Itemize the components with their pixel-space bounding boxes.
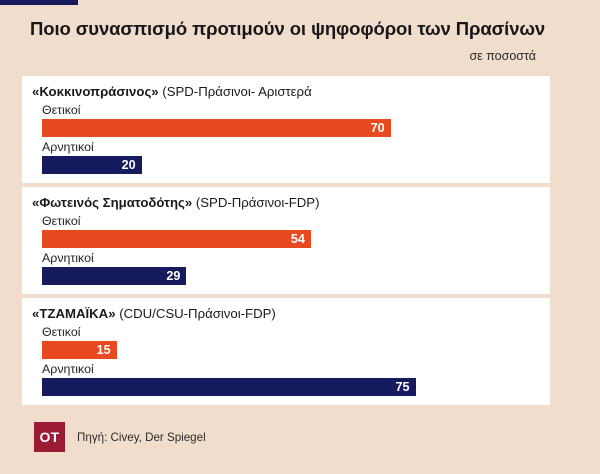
group-title-parties: (CDU/CSU-Πράσινοι-FDP)	[116, 306, 276, 321]
bar-track: 54	[42, 230, 540, 248]
series-negative: Αρνητικοί 20	[22, 139, 550, 174]
group-title-parties: (SPD-Πράσινοι-FDP)	[192, 195, 319, 210]
bar-negative[interactable]: 75	[42, 378, 416, 396]
page-title: Ποιο συνασπισμό προτιμούν οι ψηφοφόροι τ…	[30, 17, 550, 41]
bar-track: 15	[42, 341, 540, 359]
group-title-parties: (SPD-Πράσινοι- Αριστερά	[159, 84, 312, 99]
series-positive: Θετικοί 70	[22, 102, 550, 137]
series-label: Θετικοί	[42, 324, 540, 341]
bar-value: 75	[395, 380, 409, 394]
bar-positive[interactable]: 54	[42, 230, 311, 248]
series-label: Θετικοί	[42, 213, 540, 230]
source-text: Πηγή: Civey, Der Spiegel	[77, 431, 206, 444]
bar-track: 29	[42, 267, 540, 285]
bar-track: 20	[42, 156, 540, 174]
series-label: Αρνητικοί	[42, 361, 540, 378]
units-subtitle: σε ποσοστά	[469, 49, 536, 63]
group-title-name: «Κοκκινοπράσινος»	[32, 84, 159, 99]
bar-track: 70	[42, 119, 540, 137]
series-negative: Αρνητικοί 75	[22, 361, 550, 396]
chart-header: Ποιο συνασπισμό προτιμούν οι ψηφοφόροι τ…	[0, 0, 600, 65]
footer: OT Πηγή: Civey, Der Spiegel	[34, 422, 206, 452]
series-label: Αρνητικοί	[42, 139, 540, 156]
group-title-name: «Φωτεινός Σηματοδότης»	[32, 195, 192, 210]
bar-negative[interactable]: 20	[42, 156, 142, 174]
chart-groups: «Κοκκινοπράσινος» (SPD-Πράσινοι- Αριστερ…	[22, 76, 550, 409]
bar-value: 29	[166, 269, 180, 283]
series-negative: Αρνητικοί 29	[22, 250, 550, 285]
subtitle-row: σε ποσοστά	[30, 47, 570, 65]
series-positive: Θετικοί 54	[22, 213, 550, 248]
bar-negative[interactable]: 29	[42, 267, 186, 285]
series-label: Θετικοί	[42, 102, 540, 119]
top-accent-bar	[0, 0, 78, 5]
bar-value: 54	[291, 232, 305, 246]
group-title: «Κοκκινοπράσινος» (SPD-Πράσινοι- Αριστερ…	[22, 83, 550, 102]
group-title-name: «ΤΖΑΜΑΪΚΑ»	[32, 306, 116, 321]
bar-track: 75	[42, 378, 540, 396]
bar-positive[interactable]: 15	[42, 341, 117, 359]
bar-positive[interactable]: 70	[42, 119, 391, 137]
series-positive: Θετικοί 15	[22, 324, 550, 359]
group-title: «Φωτεινός Σηματοδότης» (SPD-Πράσινοι-FDP…	[22, 194, 550, 213]
bar-value: 70	[371, 121, 385, 135]
coalition-group: «ΤΖΑΜΑΪΚΑ» (CDU/CSU-Πράσινοι-FDP) Θετικο…	[22, 298, 550, 405]
bar-value: 15	[97, 343, 111, 357]
bar-value: 20	[122, 158, 136, 172]
ot-logo: OT	[34, 422, 65, 452]
series-label: Αρνητικοί	[42, 250, 540, 267]
group-title: «ΤΖΑΜΑΪΚΑ» (CDU/CSU-Πράσινοι-FDP)	[22, 305, 550, 324]
coalition-group: «Κοκκινοπράσινος» (SPD-Πράσινοι- Αριστερ…	[22, 76, 550, 183]
coalition-group: «Φωτεινός Σηματοδότης» (SPD-Πράσινοι-FDP…	[22, 187, 550, 294]
